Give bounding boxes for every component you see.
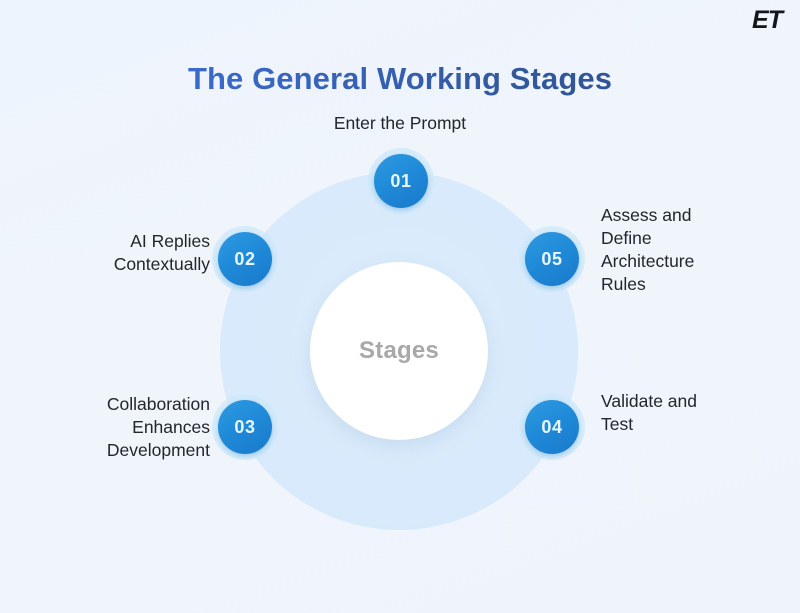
brand-logo: ET bbox=[752, 8, 782, 33]
step-node-01[interactable]: 01 bbox=[368, 148, 434, 214]
step-node-05[interactable]: 05 bbox=[519, 226, 585, 292]
step-badge-01: 01 bbox=[374, 154, 428, 208]
page-title: The General Working Stages bbox=[0, 61, 800, 97]
step-node-04[interactable]: 04 bbox=[519, 394, 585, 460]
process-wheel: Stages bbox=[220, 172, 578, 530]
step-label-01: Enter the Prompt bbox=[0, 112, 800, 135]
step-badge-04: 04 bbox=[525, 400, 579, 454]
step-badge-02: 02 bbox=[218, 232, 272, 286]
step-number-03: 03 bbox=[234, 417, 255, 438]
step-node-03[interactable]: 03 bbox=[212, 394, 278, 460]
step-badge-05: 05 bbox=[525, 232, 579, 286]
wheel-hub-label: Stages bbox=[359, 337, 439, 365]
step-number-05: 05 bbox=[541, 249, 562, 270]
step-label-04: Validate and Test bbox=[601, 390, 791, 436]
step-number-02: 02 bbox=[234, 249, 255, 270]
step-label-05: Assess and Define Architecture Rules bbox=[601, 204, 791, 296]
step-badge-03: 03 bbox=[218, 400, 272, 454]
wheel-hub: Stages bbox=[310, 262, 488, 440]
step-label-03: Collaboration Enhances Development bbox=[0, 393, 210, 462]
step-number-01: 01 bbox=[390, 171, 411, 192]
step-label-02: AI Replies Contextually bbox=[0, 230, 210, 276]
slide-canvas: ET The General Working Stages Stages 01 … bbox=[0, 0, 800, 613]
step-node-02[interactable]: 02 bbox=[212, 226, 278, 292]
step-number-04: 04 bbox=[541, 417, 562, 438]
